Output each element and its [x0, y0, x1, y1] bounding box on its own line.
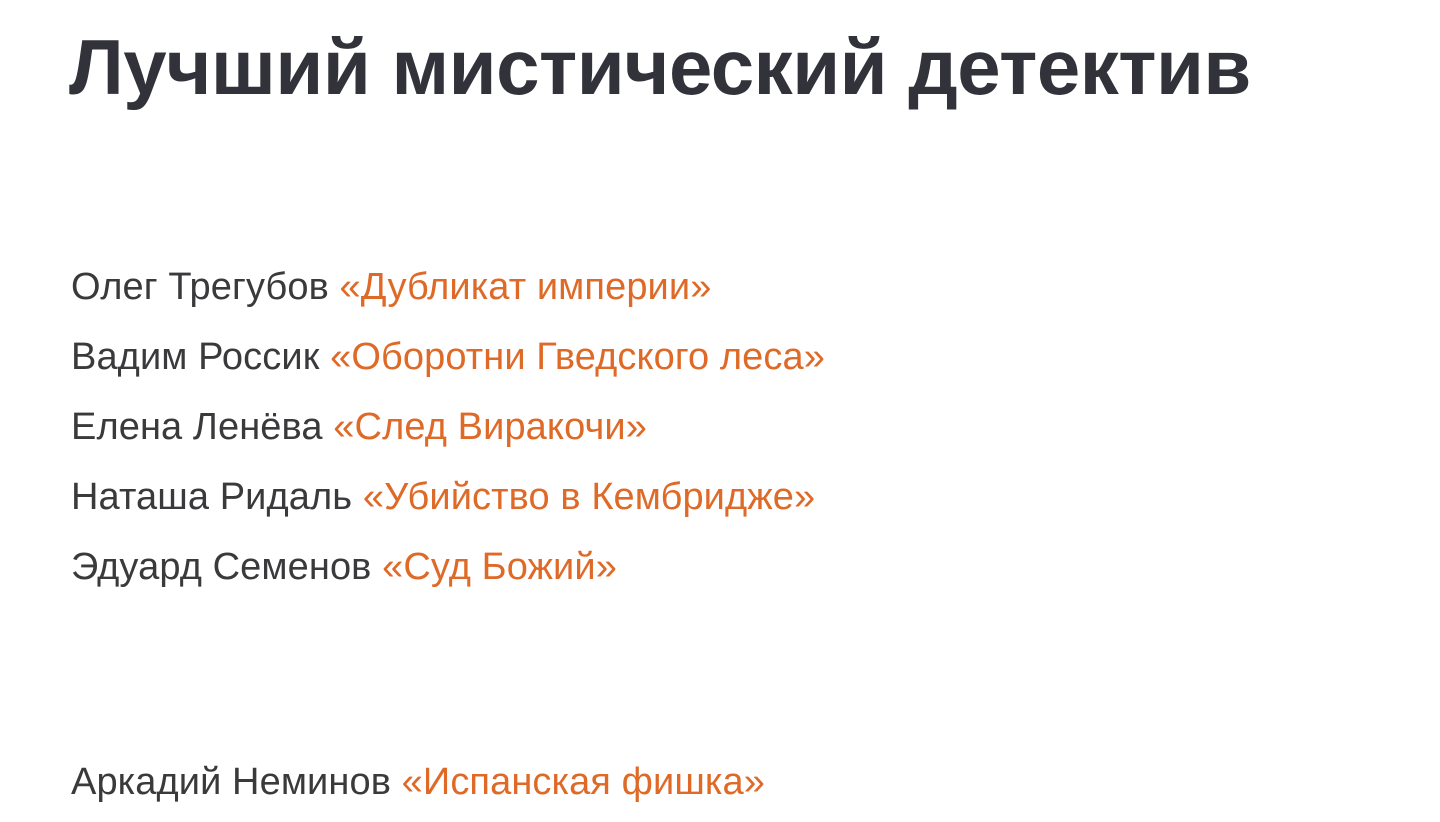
nominee-author: Елена Ленёва [71, 406, 323, 448]
nominee-book-title: «Оборотни Гведского леса» [330, 336, 825, 378]
list-item: Аркадий Неминов «Испанская фишка» [71, 747, 765, 817]
nominee-author: Эдуард Семенов [71, 546, 371, 588]
nominee-book-title: «Испанская фишка» [402, 761, 765, 803]
nominee-list: Олег Трегубов «Дубликат империи» Вадим Р… [71, 252, 825, 674]
page-root: Лучший мистический детектив Олег Трегубо… [0, 0, 1440, 822]
nominee-author: Наташа Ридаль [71, 476, 352, 518]
nominee-author: Олег Трегубов [71, 266, 329, 308]
list-item: Вадим Россик «Оборотни Гведского леса» [71, 322, 825, 392]
nominee-author: Вадим Россик [71, 336, 319, 378]
nominee-author: Аркадий Неминов [71, 761, 391, 803]
nominee-book-title: «Убийство в Кембридже» [363, 476, 815, 518]
list-item: Елена Ленёва «След Виракочи» [71, 392, 825, 462]
nominee-book-title: «След Виракочи» [333, 406, 647, 448]
list-item: Эдуард Семенов «Суд Божий» [71, 532, 825, 602]
paragraph-gap [71, 602, 825, 674]
list-item: Наташа Ридаль «Убийство в Кембридже» [71, 462, 825, 532]
nominee-book-title: «Дубликат империи» [340, 266, 712, 308]
page-title: Лучший мистический детектив [69, 15, 1251, 119]
list-item: Олег Трегубов «Дубликат империи» [71, 252, 825, 322]
nominee-book-title: «Суд Божий» [382, 546, 617, 588]
